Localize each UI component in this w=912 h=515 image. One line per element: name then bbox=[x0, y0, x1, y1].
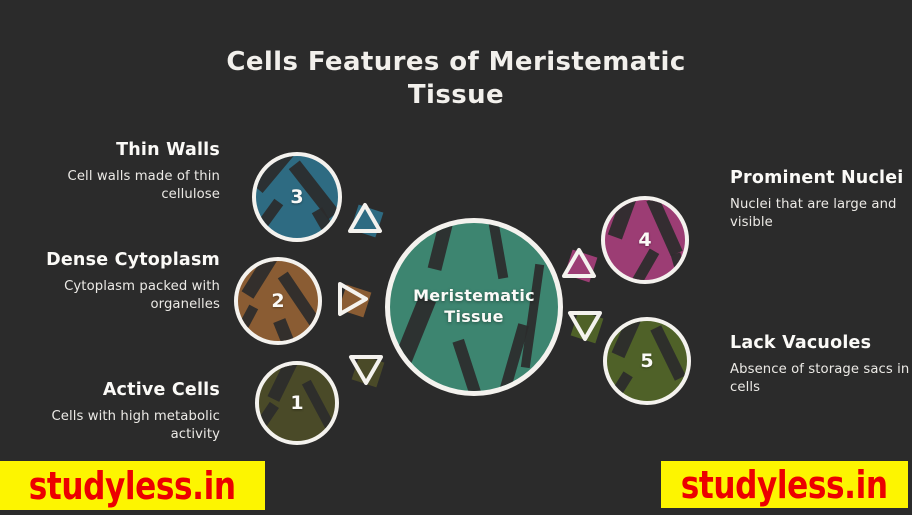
feature-description: Cytoplasm packed with organelles bbox=[20, 278, 220, 313]
feature-description: Nuclei that are large and visible bbox=[730, 196, 910, 231]
infographic-canvas: Cells Features of Meristematic Tissue Th… bbox=[0, 0, 912, 515]
center-node-meristematic-tissue: Meristematic Tissue bbox=[385, 218, 563, 396]
feature-node-5[interactable]: 5 bbox=[603, 317, 691, 405]
triangle-down-icon bbox=[343, 346, 389, 392]
feature-node-number: 5 bbox=[640, 350, 653, 372]
triangle-right-icon bbox=[330, 276, 376, 322]
feature-text-active-cells: Active Cells Cells with high metabolic a… bbox=[40, 380, 220, 443]
feature-node-2[interactable]: 2 bbox=[234, 257, 322, 345]
triangle-down-icon bbox=[562, 302, 608, 348]
feature-description: Absence of storage sacs in cells bbox=[730, 361, 910, 396]
watermark-left: studyless.in bbox=[0, 461, 265, 510]
triangle-up-icon bbox=[342, 196, 388, 242]
connector-4 bbox=[556, 241, 602, 287]
connector-2 bbox=[330, 276, 376, 322]
feature-title: Prominent Nuclei bbox=[730, 168, 910, 189]
watermark-text: studyless.in bbox=[29, 464, 236, 508]
connector-1 bbox=[343, 346, 389, 392]
center-node-label: Meristematic Tissue bbox=[413, 286, 535, 328]
connector-5 bbox=[562, 302, 608, 348]
page-title: Cells Features of Meristematic Tissue bbox=[206, 46, 706, 112]
feature-title: Active Cells bbox=[40, 380, 220, 401]
feature-title: Lack Vacuoles bbox=[730, 333, 910, 354]
watermark-right: studyless.in bbox=[661, 461, 908, 508]
feature-text-prominent-nuclei: Prominent Nuclei Nuclei that are large a… bbox=[730, 168, 910, 231]
feature-node-3[interactable]: 3 bbox=[252, 152, 342, 242]
feature-title: Dense Cytoplasm bbox=[20, 250, 220, 271]
feature-description: Cell walls made of thin cellulose bbox=[40, 168, 220, 203]
feature-text-dense-cytoplasm: Dense Cytoplasm Cytoplasm packed with or… bbox=[20, 250, 220, 313]
feature-node-1[interactable]: 1 bbox=[255, 361, 339, 445]
feature-node-4[interactable]: 4 bbox=[601, 196, 689, 284]
feature-node-number: 2 bbox=[271, 290, 284, 312]
feature-node-number: 3 bbox=[290, 186, 303, 208]
feature-title: Thin Walls bbox=[40, 140, 220, 161]
feature-description: Cells with high metabolic activity bbox=[40, 408, 220, 443]
feature-text-lack-vacuoles: Lack Vacuoles Absence of storage sacs in… bbox=[730, 333, 910, 396]
watermark-text: studyless.in bbox=[681, 463, 888, 507]
feature-node-number: 4 bbox=[638, 229, 651, 251]
triangle-up-icon bbox=[556, 241, 602, 287]
feature-text-thin-walls: Thin Walls Cell walls made of thin cellu… bbox=[40, 140, 220, 203]
connector-3 bbox=[342, 196, 388, 242]
feature-node-number: 1 bbox=[290, 392, 303, 414]
